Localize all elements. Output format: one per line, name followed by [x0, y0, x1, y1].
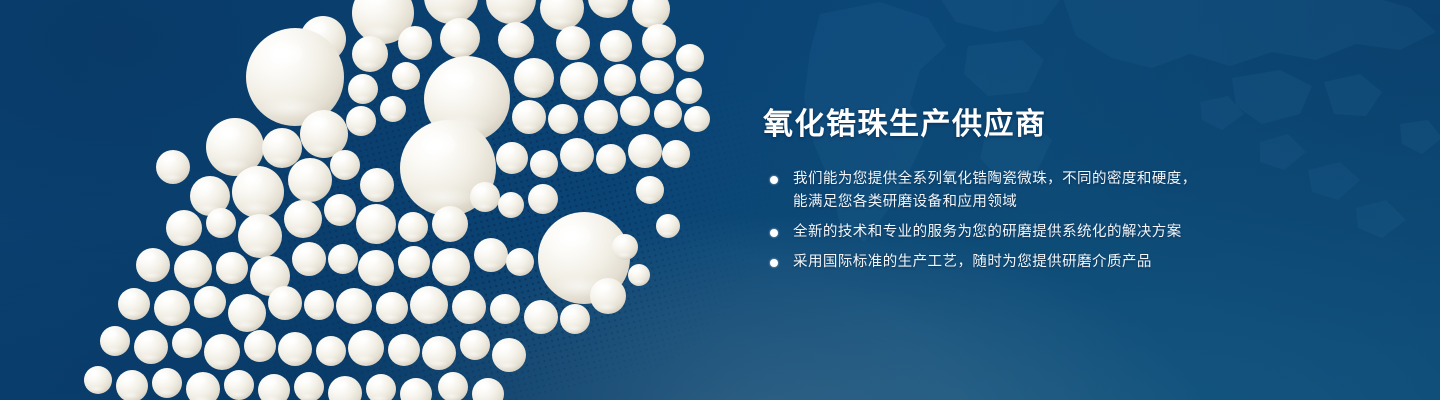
zirconia-bead	[524, 300, 558, 334]
zirconia-bead	[432, 206, 468, 242]
zirconia-bead	[152, 368, 182, 398]
feature-bullet-line: 能满足您各类研磨设备和应用领域	[793, 191, 1383, 214]
bullet-dot-icon	[770, 229, 778, 237]
zirconia-bead	[224, 370, 254, 400]
bullet-dot-icon	[770, 259, 778, 267]
zirconia-bead	[584, 100, 618, 134]
zirconia-bead	[560, 62, 598, 100]
zirconia-bead	[512, 100, 546, 134]
feature-bullet: 我们能为您提供全系列氧化锆陶瓷微珠，不同的密度和硬度，能满足您各类研磨设备和应用…	[763, 168, 1383, 214]
zirconia-bead	[206, 208, 236, 238]
zirconia-bead	[432, 248, 470, 286]
zirconia-bead	[490, 294, 520, 324]
zirconia-bead	[472, 378, 504, 400]
zirconia-bead	[528, 184, 558, 214]
zirconia-bead	[474, 238, 508, 272]
zirconia-bead	[348, 330, 384, 366]
zirconia-bead	[496, 142, 528, 174]
zirconia-bead	[136, 248, 170, 282]
zirconia-bead	[596, 144, 626, 174]
zirconia-bead	[506, 248, 534, 276]
zirconia-bead	[258, 374, 290, 400]
zirconia-bead	[498, 22, 534, 58]
zirconia-bead	[590, 278, 626, 314]
page-title: 氧化锆珠生产供应商	[763, 108, 1383, 142]
zirconia-bead	[100, 326, 130, 356]
zirconia-bead	[294, 372, 324, 400]
zirconia-bead	[548, 104, 578, 134]
zirconia-bead	[628, 264, 650, 286]
zirconia-bead	[324, 194, 356, 226]
zirconia-bead	[676, 44, 704, 72]
zirconia-bead	[194, 286, 226, 318]
zirconia-bead-cluster	[0, 0, 780, 400]
zirconia-bead	[292, 242, 326, 276]
zirconia-bead	[116, 370, 148, 400]
zirconia-bead	[268, 286, 302, 320]
zirconia-bead	[288, 158, 332, 202]
hero-banner: 氧化锆珠生产供应商 我们能为您提供全系列氧化锆陶瓷微珠，不同的密度和硬度，能满足…	[0, 0, 1440, 400]
zirconia-bead	[486, 0, 536, 24]
zirconia-bead	[154, 290, 190, 326]
zirconia-bead	[460, 330, 490, 360]
zirconia-bead	[174, 250, 212, 288]
zirconia-bead	[400, 378, 432, 400]
zirconia-bead	[452, 290, 486, 324]
zirconia-bead	[410, 286, 448, 324]
zirconia-bead	[620, 96, 650, 126]
zirconia-bead	[628, 134, 662, 168]
zirconia-bead	[186, 372, 220, 400]
zirconia-bead	[278, 332, 312, 366]
feature-bullet-line: 采用国际标准的生产工艺，随时为您提供研磨介质产品	[793, 251, 1383, 274]
zirconia-bead	[172, 328, 202, 358]
zirconia-bead	[492, 338, 526, 372]
zirconia-bead	[358, 250, 394, 286]
feature-bullet: 全新的技术和专业的服务为您的研磨提供系统化的解决方案	[763, 221, 1383, 244]
zirconia-bead	[632, 0, 670, 28]
zirconia-bead	[316, 336, 346, 366]
feature-bullet-line: 我们能为您提供全系列氧化锆陶瓷微珠，不同的密度和硬度，	[793, 168, 1383, 191]
zirconia-bead	[232, 166, 284, 218]
zirconia-bead	[676, 78, 702, 104]
zirconia-bead	[642, 24, 676, 58]
zirconia-bead	[84, 366, 112, 394]
zirconia-bead	[284, 200, 322, 238]
zirconia-bead	[356, 204, 396, 244]
zirconia-bead	[238, 214, 282, 258]
banner-copy: 氧化锆珠生产供应商 我们能为您提供全系列氧化锆陶瓷微珠，不同的密度和硬度，能满足…	[763, 108, 1383, 274]
zirconia-bead	[440, 18, 480, 58]
zirconia-bead	[662, 140, 690, 168]
zirconia-bead	[498, 192, 524, 218]
zirconia-bead	[556, 26, 590, 60]
zirconia-bead	[244, 330, 276, 362]
bullet-dot-icon	[770, 176, 778, 184]
zirconia-bead	[348, 74, 378, 104]
feature-bullet-list: 我们能为您提供全系列氧化锆陶瓷微珠，不同的密度和硬度，能满足您各类研磨设备和应用…	[763, 168, 1383, 274]
zirconia-bead	[166, 210, 202, 246]
zirconia-bead	[216, 252, 248, 284]
zirconia-bead	[640, 60, 674, 94]
feature-bullet-line: 全新的技术和专业的服务为您的研磨提供系统化的解决方案	[793, 221, 1383, 244]
zirconia-bead	[600, 30, 632, 62]
zirconia-bead	[398, 212, 428, 242]
zirconia-bead	[156, 150, 190, 184]
zirconia-bead	[560, 138, 594, 172]
zirconia-bead	[560, 304, 590, 334]
zirconia-bead	[118, 288, 150, 320]
zirconia-bead	[360, 168, 394, 202]
zirconia-bead	[352, 36, 388, 72]
zirconia-bead	[304, 290, 334, 320]
zirconia-bead	[366, 374, 396, 400]
zirconia-bead	[588, 0, 628, 18]
zirconia-bead	[604, 64, 636, 96]
zirconia-bead	[228, 294, 266, 332]
zirconia-bead	[422, 336, 456, 370]
feature-bullet: 采用国际标准的生产工艺，随时为您提供研磨介质产品	[763, 251, 1383, 274]
zirconia-bead	[530, 150, 558, 178]
zirconia-bead	[328, 244, 358, 274]
zirconia-bead	[540, 0, 584, 30]
zirconia-bead	[656, 214, 680, 238]
zirconia-bead	[376, 292, 408, 324]
zirconia-bead	[612, 234, 638, 260]
zirconia-bead	[346, 106, 376, 136]
zirconia-bead	[388, 334, 420, 366]
zirconia-bead	[514, 58, 554, 98]
zirconia-bead	[684, 106, 710, 132]
zirconia-bead	[392, 62, 420, 90]
zirconia-bead	[636, 176, 664, 204]
zirconia-bead	[438, 372, 468, 400]
zirconia-bead	[336, 288, 372, 324]
zirconia-bead	[654, 100, 682, 128]
zirconia-bead	[380, 96, 406, 122]
zirconia-bead	[330, 150, 360, 180]
zirconia-bead	[470, 182, 500, 212]
zirconia-bead	[204, 334, 240, 370]
zirconia-bead	[398, 246, 430, 278]
zirconia-bead	[398, 26, 432, 60]
zirconia-bead	[328, 376, 362, 400]
zirconia-bead	[134, 330, 168, 364]
